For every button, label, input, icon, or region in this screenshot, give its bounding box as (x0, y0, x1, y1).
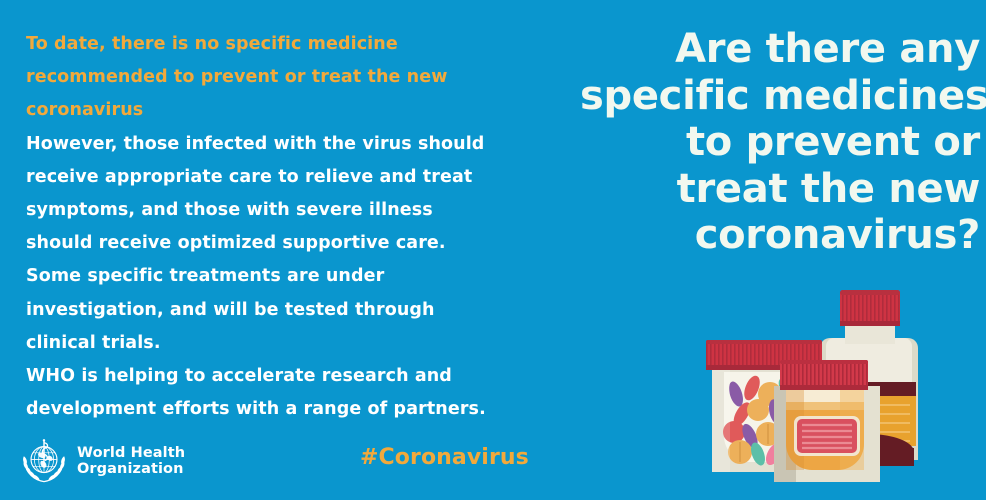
body-copy-line: clinical trials. (26, 327, 546, 360)
body-copy-line: should receive optimized supportive care… (26, 227, 546, 260)
body-copy-highlight-line: recommended to prevent or treat the new (26, 61, 546, 94)
hashtag-coronavirus: #Coronavirus (360, 445, 529, 470)
body-copy-line: development efforts with a range of part… (26, 393, 546, 426)
who-wordmark-line2: Organization (77, 461, 185, 478)
headline-line: coronavirus? (580, 212, 980, 259)
who-logo: World Health Organization (20, 437, 185, 485)
syrup-bottle-front (774, 360, 880, 482)
body-copy-line: receive appropriate care to relieve and … (26, 161, 546, 194)
headline-line: to prevent or (580, 119, 980, 166)
who-emblem-icon (20, 437, 68, 485)
body-copy-line: However, those infected with the virus s… (26, 128, 546, 161)
headline-line: Are there any (580, 26, 980, 73)
medicine-bottles-illustration (690, 276, 986, 500)
body-copy-line: WHO is helping to accelerate research an… (26, 360, 546, 393)
bottle-label (794, 416, 860, 456)
body-copy-line: investigation, and will be tested throug… (26, 294, 546, 327)
body-copy-line: Some specific treatments are under (26, 260, 546, 293)
body-copy-line: symptoms, and those with severe illness (26, 194, 546, 227)
medicine-bottles-graphic (690, 276, 986, 500)
who-wordmark: World Health Organization (77, 445, 185, 478)
who-coronavirus-infographic: To date, there is no specific medicine r… (0, 0, 986, 500)
body-copy-highlight-line: coronavirus (26, 94, 546, 127)
body-copy-block: To date, there is no specific medicine r… (26, 28, 546, 426)
headline-line: treat the new (580, 166, 980, 213)
headline-question: Are there any specific medicines to prev… (580, 26, 980, 259)
body-copy-highlight-line: To date, there is no specific medicine (26, 28, 546, 61)
headline-line: specific medicines (580, 73, 980, 120)
who-wordmark-line1: World Health (77, 445, 185, 462)
